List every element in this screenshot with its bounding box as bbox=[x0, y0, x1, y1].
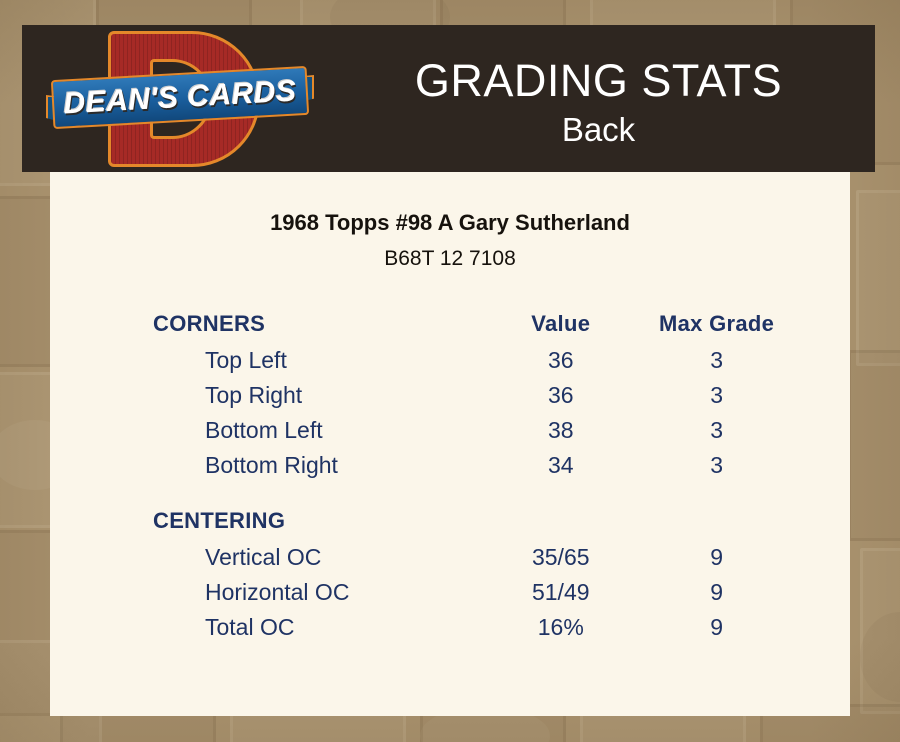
header-title-group: GRADING STATS Back bbox=[322, 25, 875, 172]
stat-max-grade: 9 bbox=[640, 610, 793, 645]
section-spacer-cell bbox=[153, 483, 793, 502]
column-header-max-grade: Max Grade bbox=[640, 305, 793, 343]
stat-row: Vertical OC35/659 bbox=[153, 540, 793, 575]
stat-value: 38 bbox=[481, 413, 640, 448]
stat-row: Top Left363 bbox=[153, 343, 793, 378]
stat-max-grade: 3 bbox=[640, 448, 793, 483]
card-code: B68T 12 7108 bbox=[50, 247, 850, 271]
column-header-max-grade bbox=[640, 502, 793, 540]
stat-label: Bottom Left bbox=[153, 413, 481, 448]
grading-stats: CORNERSValueMax GradeTop Left363Top Righ… bbox=[50, 305, 850, 645]
column-header-value: Value bbox=[481, 305, 640, 343]
stat-row: Horizontal OC51/499 bbox=[153, 575, 793, 610]
stat-max-grade: 3 bbox=[640, 413, 793, 448]
stat-value: 36 bbox=[481, 343, 640, 378]
section-name: CENTERING bbox=[153, 502, 481, 540]
stat-row: Bottom Left383 bbox=[153, 413, 793, 448]
stat-max-grade: 9 bbox=[640, 540, 793, 575]
section-header-row: CORNERSValueMax Grade bbox=[153, 305, 793, 343]
content-panel: 1968 Topps #98 A Gary Sutherland B68T 12… bbox=[50, 172, 850, 716]
section-header-row: CENTERING bbox=[153, 502, 793, 540]
logo-ribbon-text: DEAN'S CARDS bbox=[45, 66, 315, 130]
stat-value: 16% bbox=[481, 610, 640, 645]
stat-label: Horizontal OC bbox=[153, 575, 481, 610]
stat-max-grade: 3 bbox=[640, 343, 793, 378]
page-title: GRADING STATS bbox=[415, 57, 782, 104]
stat-label: Top Left bbox=[153, 343, 481, 378]
deans-cards-logo[interactable]: DEAN'S CARDS bbox=[46, 27, 314, 170]
header-bar: DEAN'S CARDS GRADING STATS Back bbox=[22, 25, 875, 172]
stat-row: Top Right363 bbox=[153, 378, 793, 413]
card-title: 1968 Topps #98 A Gary Sutherland bbox=[50, 210, 850, 236]
stat-max-grade: 3 bbox=[640, 378, 793, 413]
column-header-value bbox=[481, 502, 640, 540]
stat-label: Vertical OC bbox=[153, 540, 481, 575]
logo-ribbon-icon: DEAN'S CARDS bbox=[46, 69, 314, 131]
grading-stats-table: CORNERSValueMax GradeTop Left363Top Righ… bbox=[153, 305, 793, 645]
stat-max-grade: 9 bbox=[640, 575, 793, 610]
section-name: CORNERS bbox=[153, 305, 481, 343]
stat-value: 34 bbox=[481, 448, 640, 483]
stat-label: Bottom Right bbox=[153, 448, 481, 483]
stat-label: Total OC bbox=[153, 610, 481, 645]
stat-label: Top Right bbox=[153, 378, 481, 413]
stat-row: Bottom Right343 bbox=[153, 448, 793, 483]
page-subtitle: Back bbox=[562, 110, 635, 150]
stat-value: 36 bbox=[481, 378, 640, 413]
stat-row: Total OC16%9 bbox=[153, 610, 793, 645]
stat-value: 35/65 bbox=[481, 540, 640, 575]
stat-value: 51/49 bbox=[481, 575, 640, 610]
section-spacer bbox=[153, 483, 793, 502]
